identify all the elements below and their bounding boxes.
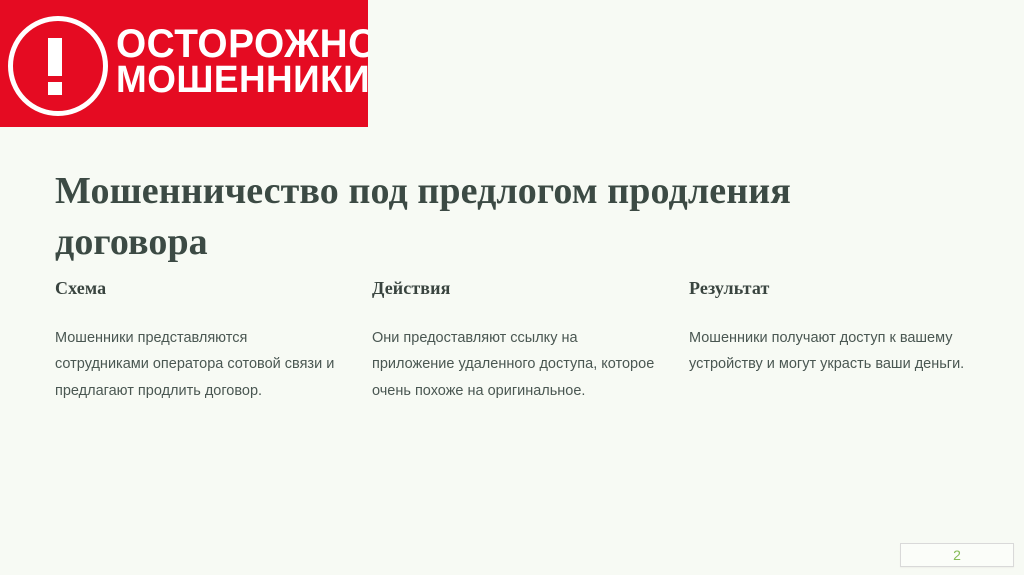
- slide-canvas: ОСТОРОЖНО, МОШЕННИКИ Мошенничество под п…: [0, 0, 1024, 575]
- column-body: Мошенники получают доступ к вашему устро…: [689, 325, 976, 378]
- warning-banner-line-2: МОШЕННИКИ: [116, 63, 368, 99]
- exclamation-stem: [48, 38, 62, 76]
- column-actions: Действия Они предоставляют ссылку на при…: [372, 278, 689, 404]
- page-number-box[interactable]: 2: [900, 543, 1014, 567]
- column-body: Мошенники представляются сотрудниками оп…: [55, 325, 342, 404]
- column-heading: Схема: [55, 278, 342, 299]
- column-result: Результат Мошенники получают доступ к ва…: [689, 278, 1006, 404]
- warning-banner-line-1: ОСТОРОЖНО,: [116, 26, 368, 64]
- page-title: Мошенничество под предлогом продления до…: [55, 166, 935, 267]
- content-columns: Схема Мошенники представляются сотрудник…: [55, 278, 980, 404]
- column-heading: Результат: [689, 278, 976, 299]
- page-number: 2: [953, 548, 961, 562]
- warning-banner-text: ОСТОРОЖНО, МОШЕННИКИ: [116, 26, 368, 101]
- warning-banner: ОСТОРОЖНО, МОШЕННИКИ: [0, 0, 368, 127]
- column-body: Они предоставляют ссылку на приложение у…: [372, 325, 659, 404]
- column-scheme: Схема Мошенники представляются сотрудник…: [55, 278, 372, 404]
- column-heading: Действия: [372, 278, 659, 299]
- exclamation-dot: [48, 82, 62, 95]
- exclamation-circle-icon: [6, 14, 106, 114]
